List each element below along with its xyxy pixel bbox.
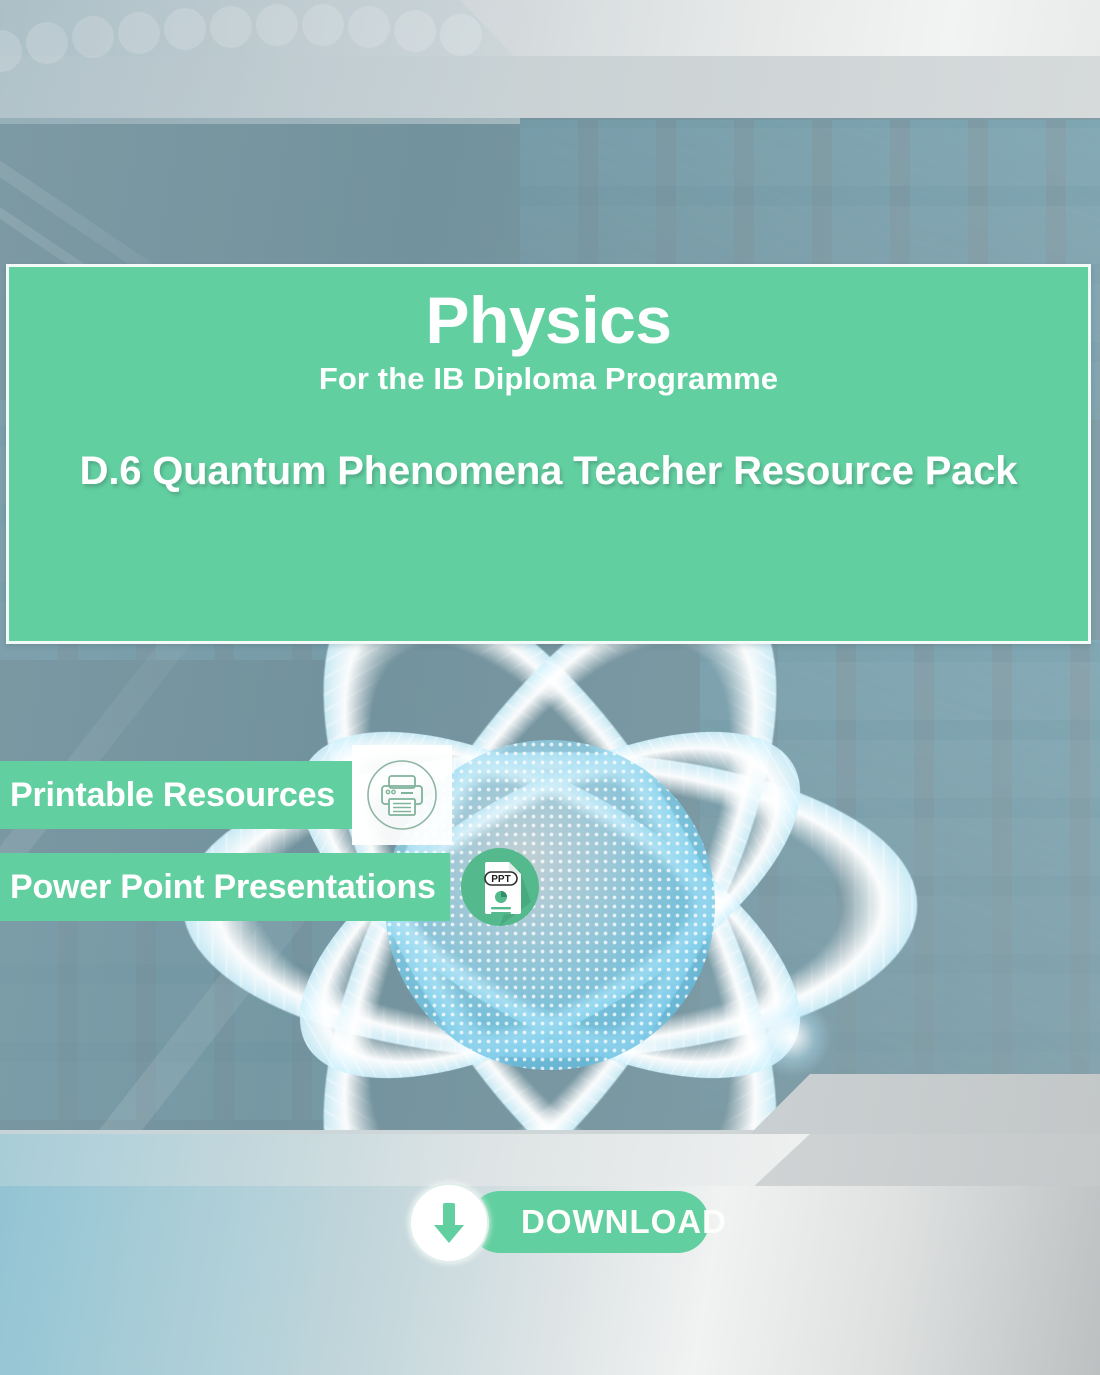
svg-text:PPT: PPT — [491, 874, 510, 885]
printable-resources-bar[interactable]: Printable Resources — [0, 761, 352, 829]
download-pill[interactable]: DOWNLOAD — [469, 1191, 709, 1253]
pack-title: D.6 Quantum Phenomena Teacher Resource P… — [9, 449, 1088, 494]
printer-icon-plate — [352, 745, 452, 845]
subject-title: Physics — [9, 287, 1088, 353]
resource-row-powerpoint[interactable]: Power Point Presentations PPT — [0, 837, 550, 937]
atom-glint — [752, 997, 832, 1077]
poster-canvas: Physics For the IB Diploma Programme D.6… — [0, 0, 1100, 1375]
printer-icon — [365, 758, 439, 832]
background-dot-row — [0, 4, 540, 74]
background-bottom-step-fill — [0, 1134, 810, 1190]
programme-subtitle: For the IB Diploma Programme — [9, 361, 1088, 397]
powerpoint-presentations-bar[interactable]: Power Point Presentations — [0, 853, 450, 921]
download-arrow-icon — [427, 1197, 471, 1249]
resource-row-printable[interactable]: Printable Resources — [0, 745, 452, 845]
title-banner: Physics For the IB Diploma Programme D.6… — [6, 264, 1091, 644]
printable-resources-label: Printable Resources — [10, 778, 335, 812]
powerpoint-presentations-label: Power Point Presentations — [10, 870, 436, 904]
download-icon-circle[interactable] — [409, 1183, 489, 1263]
powerpoint-icon-plate: PPT — [450, 837, 550, 937]
download-label: DOWNLOAD — [521, 1191, 727, 1253]
powerpoint-file-icon: PPT — [457, 844, 543, 930]
download-button[interactable]: DOWNLOAD — [409, 1183, 489, 1263]
